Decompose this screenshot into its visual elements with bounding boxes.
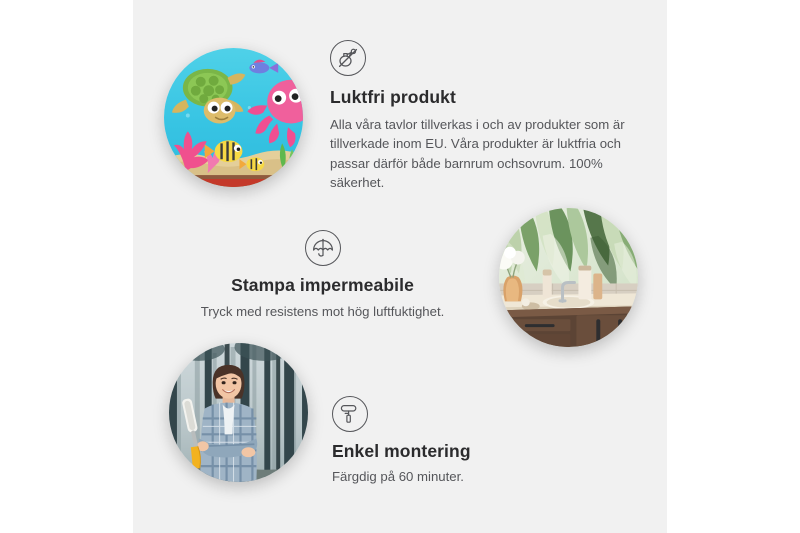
photo-forest-installer: [169, 343, 308, 482]
feature-title: Luktfri produkt: [330, 87, 630, 109]
paint-roller-glyph: [338, 402, 362, 426]
forest-installer-illustration: [169, 343, 308, 482]
promo-banner: Luktfri produkt Alla våra tavlor tillver…: [0, 0, 800, 533]
feature-body: Tryck med resistens mot hög luftfuktighe…: [180, 302, 465, 322]
ocean-mural-illustration: [164, 48, 303, 187]
no-perfume-glyph: [336, 46, 360, 70]
feature-waterproof: Stampa impermeabile Tryck med resistens …: [180, 230, 465, 321]
photo-ocean-mural: [164, 48, 303, 187]
no-perfume-icon: [330, 40, 366, 76]
feature-title: Stampa impermeabile: [180, 275, 465, 297]
photo-bathroom-wallpaper: [499, 208, 638, 347]
feature-odourless: Luktfri produkt Alla våra tavlor tillver…: [330, 40, 630, 193]
umbrella-icon: [305, 230, 341, 266]
bathroom-illustration: [499, 208, 638, 347]
paint-roller-icon: [332, 396, 368, 432]
umbrella-glyph: [311, 236, 335, 260]
feature-easy-mounting: Enkel montering Färgdig på 60 minuter.: [332, 396, 582, 486]
feature-body: Alla våra tavlor tillverkas i och av pro…: [330, 115, 630, 193]
feature-body: Färgdig på 60 minuter.: [332, 467, 582, 487]
feature-title: Enkel montering: [332, 441, 582, 463]
